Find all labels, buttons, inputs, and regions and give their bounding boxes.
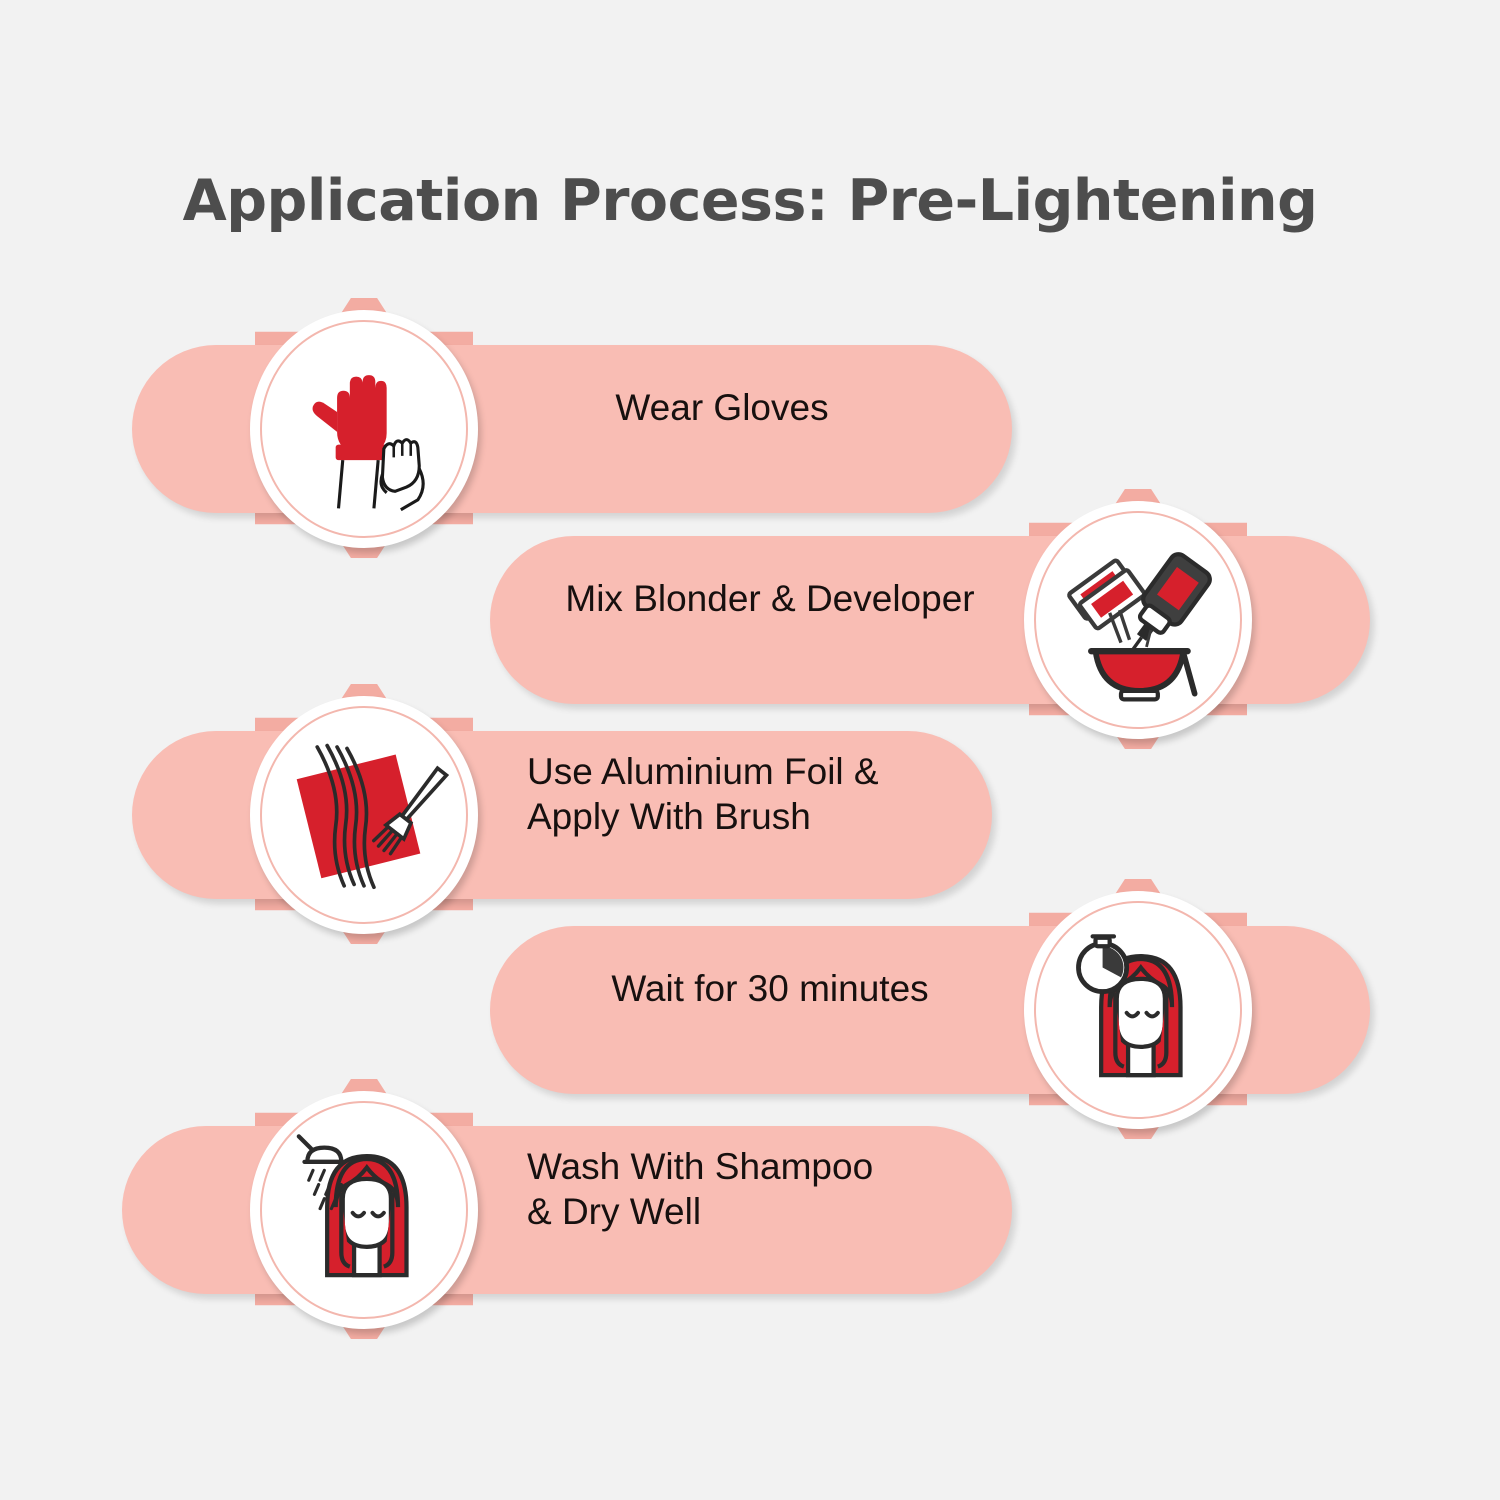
step-icon-badge-5[interactable] [250, 1091, 478, 1329]
foil-brush-icon [279, 730, 449, 900]
step-label-2: Mix Blonder & Developer [490, 515, 1050, 683]
process-step-2[interactable]: Mix Blonder & Developer [490, 515, 1370, 725]
step-label-5: Wash With Shampoo & Dry Well [527, 1105, 1012, 1273]
process-step-5[interactable]: Wash With Shampoo & Dry Well [122, 1105, 1012, 1315]
process-step-1[interactable]: Wear Gloves [132, 324, 1012, 534]
step-icon-badge-1[interactable] [250, 310, 478, 548]
step-icon-badge-4[interactable] [1024, 891, 1252, 1129]
step-label-1: Wear Gloves [432, 324, 1012, 492]
process-steps-list: Wear Gloves [0, 0, 1500, 1500]
step-label-4: Wait for 30 minutes [490, 905, 1050, 1073]
shower-woman-icon [279, 1125, 449, 1295]
process-step-3[interactable]: Use Aluminium Foil & Apply With Brush [132, 710, 992, 920]
process-step-4[interactable]: Wait for 30 minutes [490, 905, 1370, 1115]
step-label-3: Use Aluminium Foil & Apply With Brush [527, 710, 992, 878]
mixing-bowl-icon [1053, 535, 1223, 705]
step-icon-badge-2[interactable] [1024, 501, 1252, 739]
gloved-hand-icon [279, 344, 449, 514]
stopwatch-woman-icon [1053, 925, 1223, 1095]
step-icon-badge-3[interactable] [250, 696, 478, 934]
